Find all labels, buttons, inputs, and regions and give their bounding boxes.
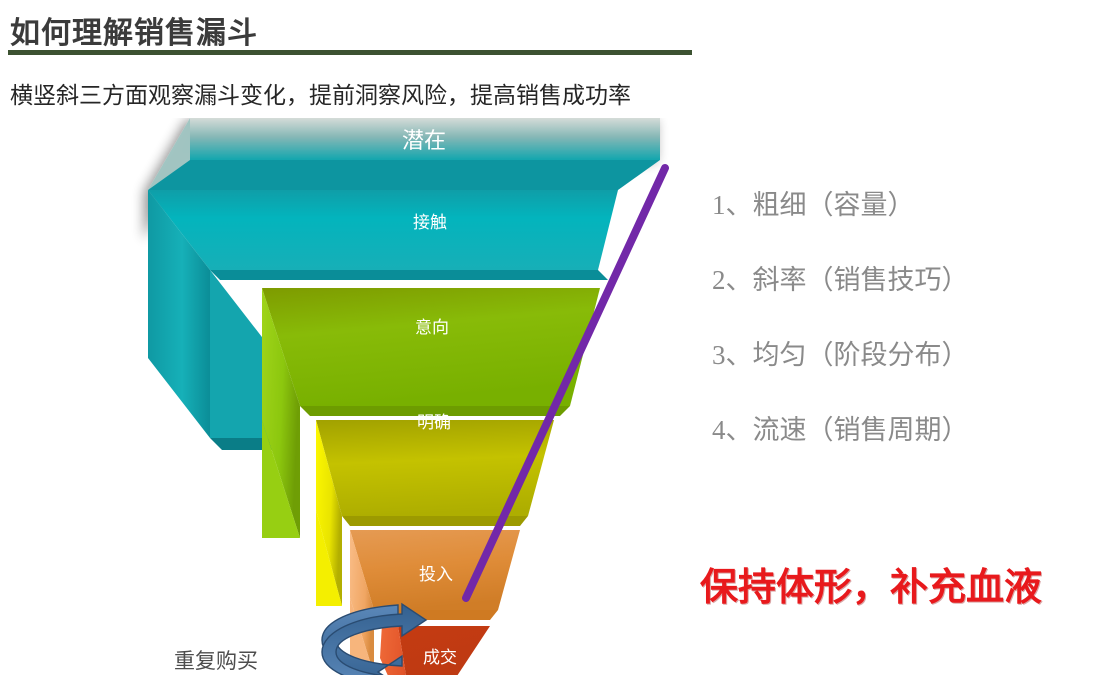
insight-list: 1、粗细（容量） 2、斜率（销售技巧） 3、均匀（阶段分布） 4、流速（销售周期… [712,192,1112,492]
funnel-stage-1-label: 接触 [413,213,447,232]
insight-item-2: 2、斜率（销售技巧） [712,267,1112,294]
funnel-stage-1-front-face [148,190,618,270]
funnel-stage-2-front-face [262,288,600,406]
title-underline-rule [8,50,692,55]
funnel-stage-3-front-face [316,420,554,516]
page-subtitle: 横竖斜三方面观察漏斗变化，提前洞察风险，提高销售成功率 [10,76,631,110]
funnel-stage-1-top-rim [148,160,660,190]
insight-item-1: 1、粗细（容量） [712,192,1112,219]
insight-item-3: 3、均匀（阶段分布） [712,342,1112,369]
funnel-stage-2-label: 意向 [415,318,449,337]
repeat-purchase-label: 重复购买 [0,645,690,675]
repeat-purchase-text: 重复购买 [174,645,258,675]
insight-item-4: 4、流速（销售周期） [712,417,1112,444]
funnel-stage-3-label: 明确 [417,413,451,432]
slide-canvas: 如何理解销售漏斗 横竖斜三方面观察漏斗变化，提前洞察风险，提高销售成功率 [0,0,1120,675]
sales-funnel-graphic: 潜在 接触 意向 明确 投入 成交 [0,118,700,675]
funnel-stage-1-bottom-rim [210,270,608,280]
slogan-text: 保持体形，补充血液 [700,556,1042,611]
funnel-stage-0-label: 潜在 [402,128,446,153]
funnel-stage-4-label: 投入 [419,565,453,584]
page-title: 如何理解销售漏斗 [10,8,258,52]
